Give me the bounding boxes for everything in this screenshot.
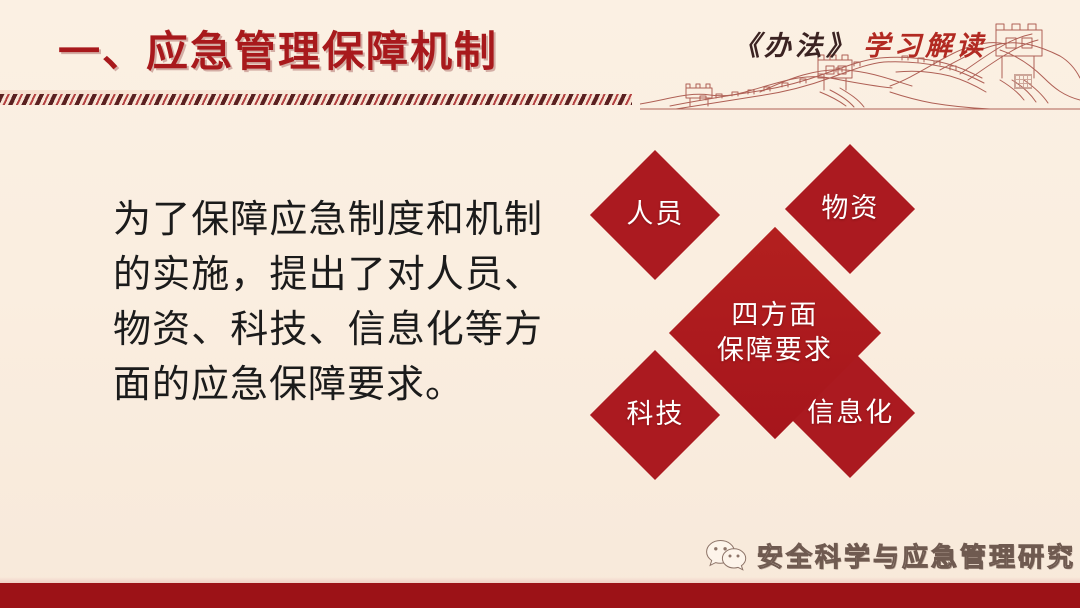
diagram-node-info-label: 信息化 (807, 397, 894, 428)
diagram-node-people[interactable]: 人员 (590, 150, 720, 280)
body-paragraph: 为了保障应急制度和机制的实施，提出了对人员、物资、科技、信息化等方面的应急保障要… (113, 193, 543, 413)
footer-brand: 安全科学与应急管理研究 (705, 535, 1076, 575)
diagram-node-tech[interactable]: 科技 (590, 350, 720, 480)
diagram-node-people-label: 人员 (626, 199, 684, 230)
diagram-node-center-label: 四方面 保障要求 (717, 298, 833, 368)
bottom-bar (0, 583, 1080, 608)
slide-canvas: 一、应急管理保障机制 (0, 0, 1080, 608)
decoration-brackets-text: 《办法》 (733, 31, 857, 61)
decoration-red-text: 学习解读 (863, 31, 987, 61)
diagram-node-supplies-label: 物资 (821, 193, 879, 224)
diagram-node-supplies[interactable]: 物资 (785, 144, 915, 274)
page-title: 一、应急管理保障机制 (58, 25, 498, 79)
diagram-center-line1: 四方面 (732, 300, 819, 330)
diamond-diagram: 人员 物资 四方面 保障要求 科技 信息化 (560, 130, 980, 490)
diagram-center-line2: 保障要求 (717, 335, 833, 365)
wechat-icon (705, 538, 747, 572)
diagram-node-tech-label: 科技 (626, 399, 684, 430)
hatched-divider (0, 94, 632, 105)
header-decoration: 《办法》学习解读 (640, 0, 1080, 110)
decoration-caption: 《办法》学习解读 (640, 24, 1080, 63)
seal-icon (1014, 74, 1032, 89)
footer-account-name: 安全科学与应急管理研究 (757, 537, 1076, 574)
